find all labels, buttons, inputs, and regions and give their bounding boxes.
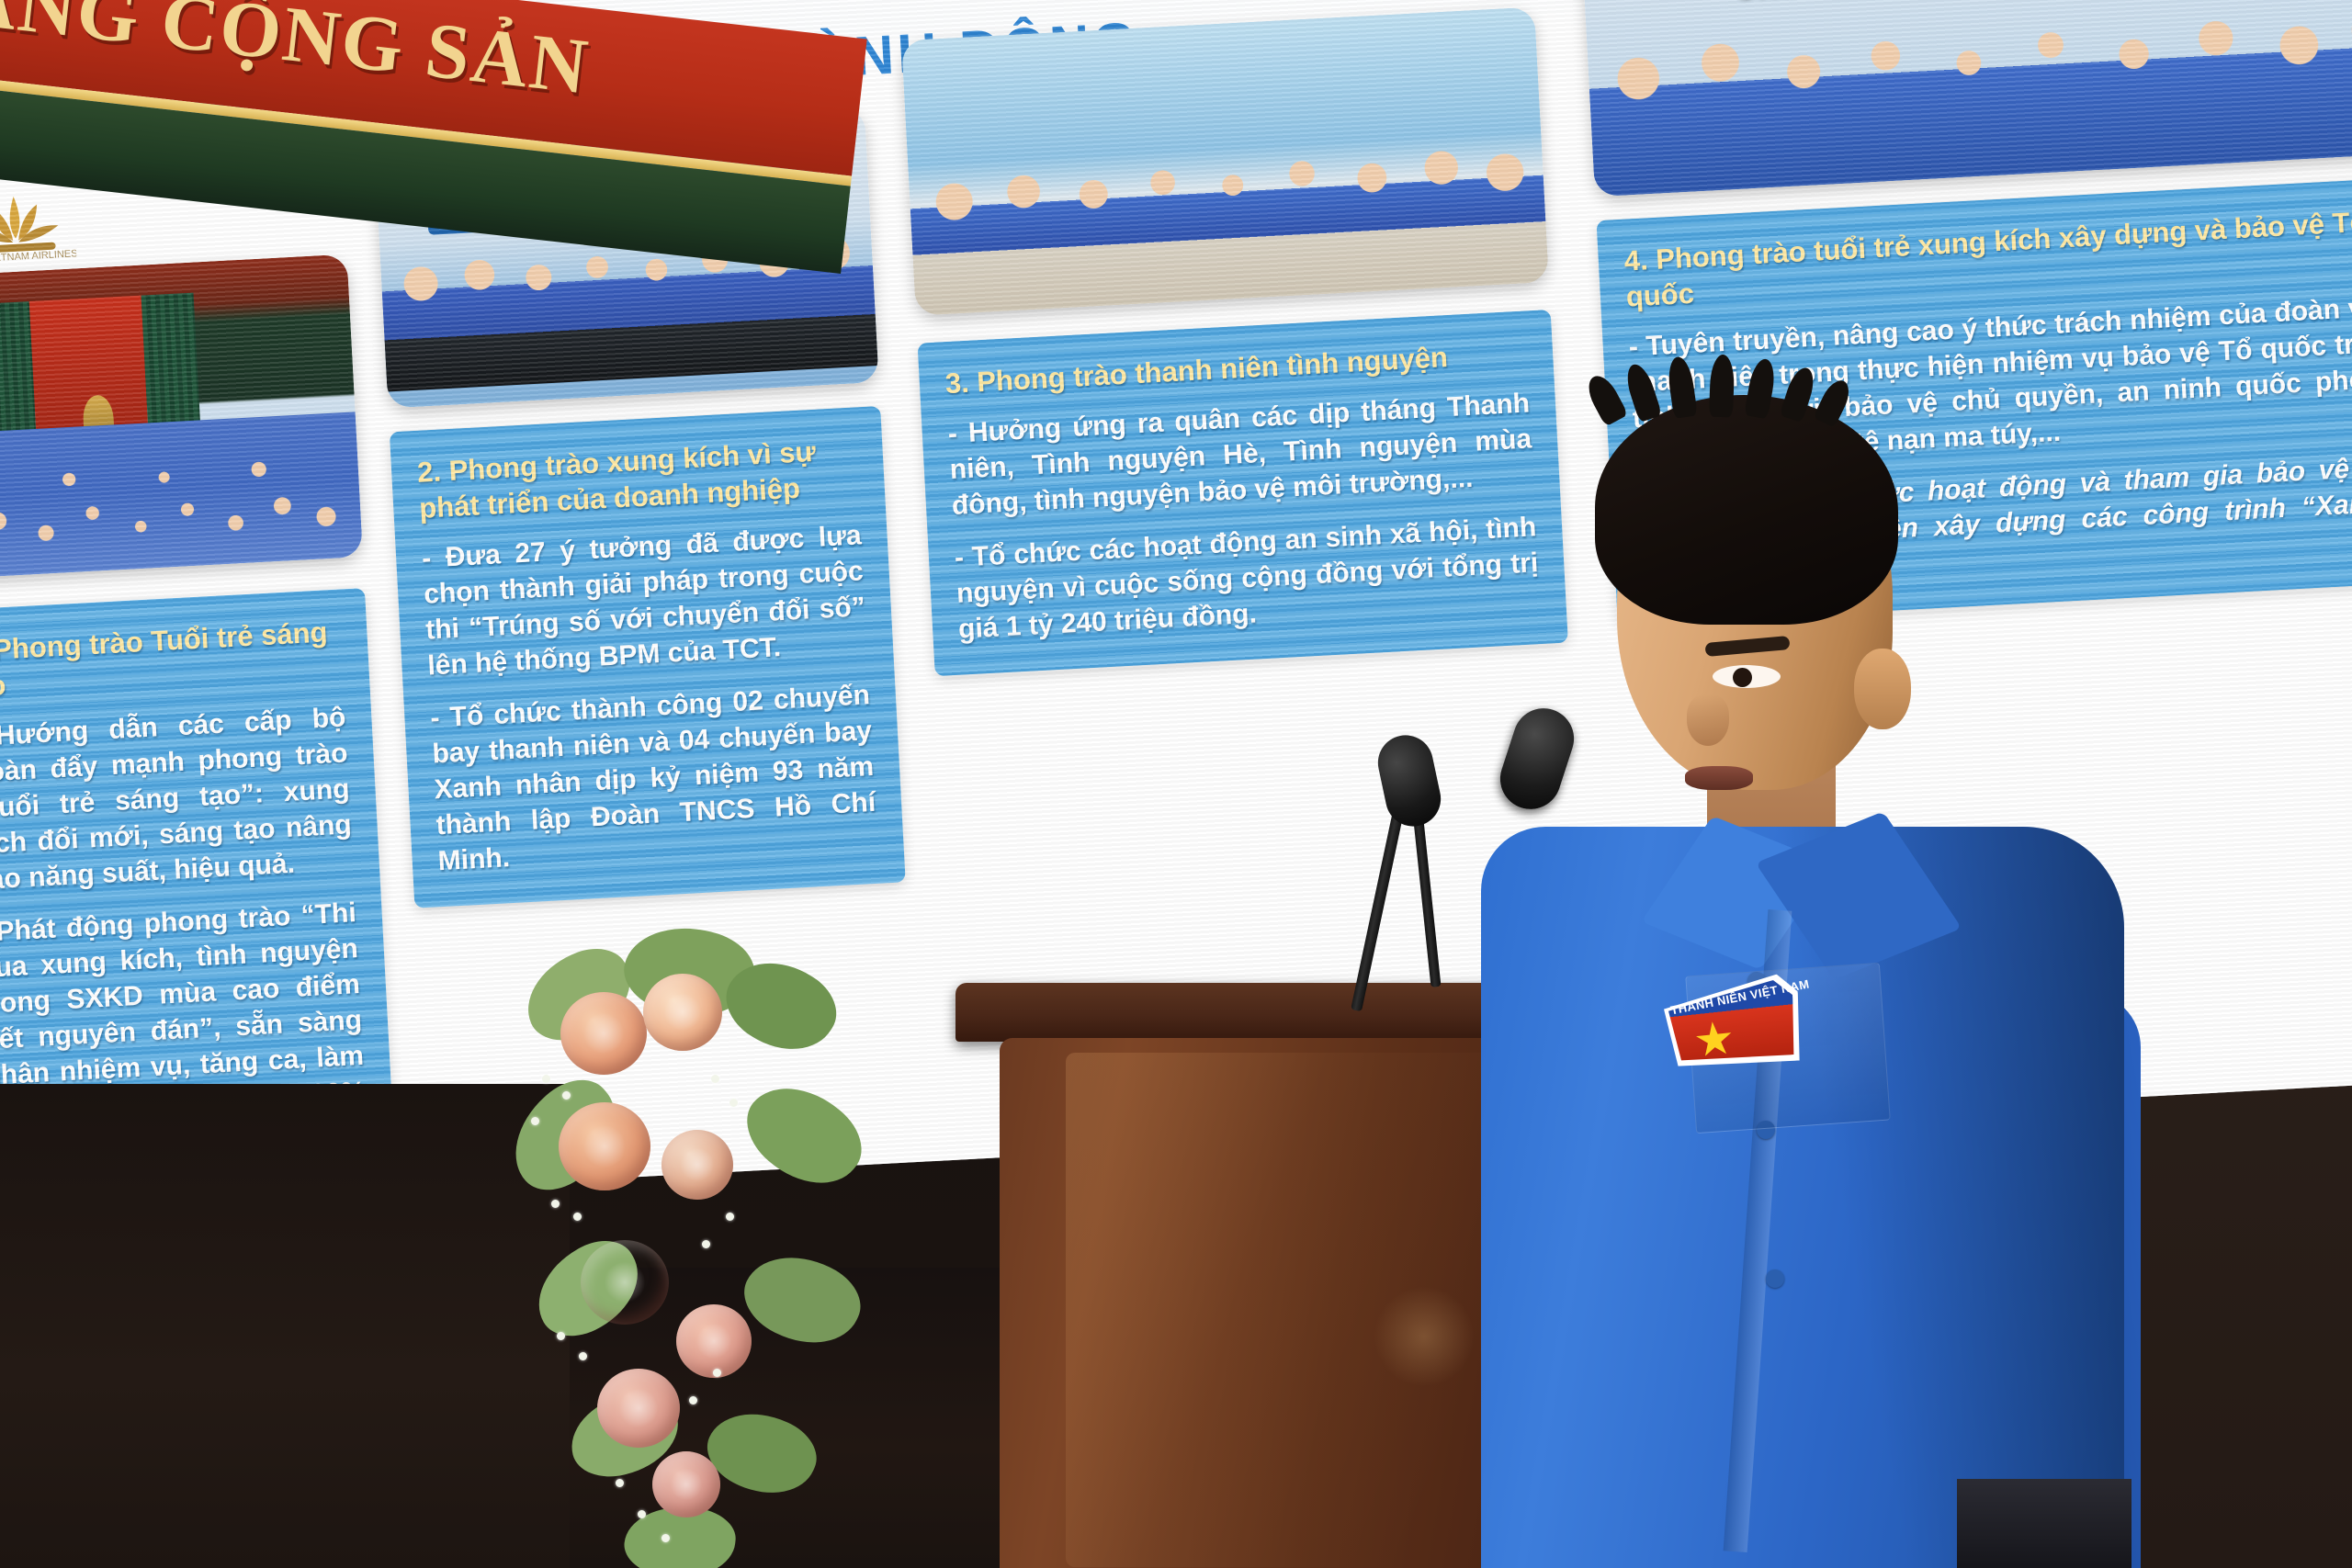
screenshot-stage: CÁC PHONG TRÀO HÀNH ĐỘNG VIETNAM AIRLINE… bbox=[0, 0, 2352, 1568]
speaker-eye bbox=[1713, 665, 1781, 688]
speaker-person: THANH NIÊN VIỆT NAM bbox=[1553, 395, 2067, 1568]
speaker-nose bbox=[1687, 694, 1729, 746]
column-1-heading: 1. Phong trào Tuổi trẻ sáng tạo bbox=[0, 614, 344, 705]
podium-emblem bbox=[1374, 1286, 1475, 1387]
speaker-mouth bbox=[1685, 766, 1753, 790]
column-2-paragraph-2: - Tổ chức thành công 02 chuyến bay thanh… bbox=[429, 677, 878, 879]
youth-union-badge: THANH NIÊN VIỆT NAM bbox=[1658, 972, 1804, 1074]
speaker-eyebrow bbox=[1705, 636, 1791, 657]
photo-chuong-trinh-program-group: CHƯƠNG TRÌNH bbox=[1580, 0, 2352, 197]
slide-column-1: 1. Phong trào Tuổi trẻ sáng tạo - Hướng … bbox=[0, 80, 398, 1230]
photo-ceremony-hall-group bbox=[0, 254, 363, 581]
flower-arrangement bbox=[514, 937, 928, 1568]
speaker-shirt-shading bbox=[1481, 827, 2124, 1568]
shirt-button bbox=[1766, 1269, 1784, 1288]
speaker-hair bbox=[1595, 395, 1898, 625]
speaker-ear bbox=[1854, 649, 1911, 729]
column-2-heading: 2. Phong trào xung kích vì sự phát triển… bbox=[416, 431, 859, 525]
column-1-paragraph-1: - Hướng dẫn các cấp bộ Đoàn đẩy mạnh pho… bbox=[0, 700, 355, 899]
column-3-paragraph-1: - Hưởng ứng ra quân các dịp tháng Thanh … bbox=[947, 385, 1534, 524]
speaker-trousers bbox=[1957, 1479, 2131, 1568]
room-wall-lower-left bbox=[0, 1084, 570, 1568]
slide-text-block-3: 3. Phong trào thanh niên tình nguyện - H… bbox=[918, 310, 1568, 676]
column-2-paragraph-1: - Đưa 27 ý tưởng đã được lựa chọn thành … bbox=[421, 517, 868, 683]
photo-beach-volunteer-group bbox=[901, 6, 1549, 315]
column-3-paragraph-2: - Tổ chức các hoạt động an sinh xã hội, … bbox=[954, 509, 1541, 648]
slide-column-3: 3. Phong trào thanh niên tình nguyện - H… bbox=[902, 16, 1568, 676]
slide-text-block-2: 2. Phong trào xung kích vì sự phát triển… bbox=[390, 406, 906, 908]
